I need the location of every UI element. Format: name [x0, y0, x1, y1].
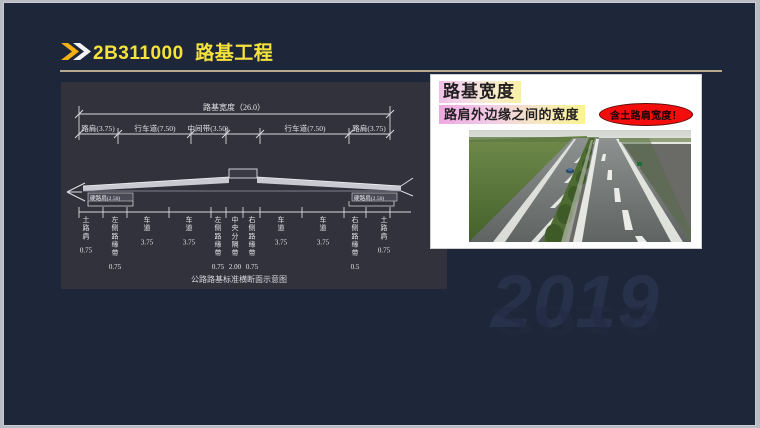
- lbl-9: 右侧路缘带: [352, 215, 359, 257]
- title-code: 2B311000: [93, 43, 184, 64]
- svg-text:硬路肩(2.50): 硬路肩(2.50): [90, 194, 120, 202]
- val-3: 3.75: [183, 238, 196, 246]
- cross-section-drawing: 路基宽度（26.0） 路肩(3.75) 行车道(7.50) 中间带(3.50) …: [61, 82, 447, 289]
- seg-label-0: 路肩(3.75): [81, 123, 115, 133]
- val-7: 3.75: [275, 238, 288, 246]
- right-subtitle-highlight: 路肩外边缘之间的宽度: [439, 105, 585, 124]
- right-title: 路基宽度: [443, 81, 515, 103]
- watermark-reflection: 2019: [491, 300, 721, 341]
- val-0: 0.75: [80, 247, 93, 255]
- watermark-text: 2019: [491, 265, 721, 339]
- val-6: 0.75: [246, 263, 259, 271]
- presentation-slide: 2019 2019 2B311000 路基工程: [3, 2, 756, 426]
- lbl-8: 车道: [320, 215, 327, 232]
- highway-photo-image: [469, 130, 691, 242]
- overall-dim-label: 路基宽度（26.0）: [203, 102, 265, 112]
- lbl-1: 左侧路缘带: [112, 215, 119, 257]
- lbl-7: 车道: [278, 215, 285, 232]
- val-4: 0.75: [212, 263, 225, 271]
- cross-section-diagram: 路基宽度（26.0） 路肩(3.75) 行车道(7.50) 中间带(3.50) …: [61, 82, 447, 289]
- seg-label-3: 行车道(7.50): [284, 123, 326, 133]
- val-2: 3.75: [141, 238, 154, 246]
- lbl-6: 右侧路缘带: [249, 215, 256, 257]
- highway-photo: [469, 130, 691, 242]
- year-watermark: 2019 2019: [491, 265, 721, 405]
- lbl-0: 土路肩: [83, 215, 90, 240]
- lbl-10: 土路肩: [381, 215, 388, 240]
- lbl-4: 左侧路缘带: [215, 215, 222, 257]
- status-badge: 含土路肩宽度！: [599, 103, 693, 126]
- val-10: 0.75: [378, 247, 391, 255]
- photo-card: 路基宽度 路肩外边缘之间的宽度 含土路肩宽度！: [430, 74, 702, 249]
- lbl-5: 中央分隔带: [232, 215, 239, 257]
- shoulder-tag-right: 硬路肩(2.50): [352, 193, 397, 202]
- val-9: 0.5: [351, 263, 360, 271]
- badge-label: 含土路肩宽度！: [610, 107, 682, 122]
- lbl-2: 车道: [144, 215, 151, 232]
- double-chevron-icon: [61, 43, 91, 60]
- val-5: 2.00: [229, 263, 242, 271]
- title-label: 路基工程: [195, 43, 273, 64]
- right-subtitle: 路肩外边缘之间的宽度: [444, 105, 579, 124]
- seg-label-1: 行车道(7.50): [134, 123, 176, 133]
- shoulder-tag-left: 硬路肩(2.50): [88, 193, 133, 202]
- lbl-3: 车道: [186, 215, 193, 232]
- svg-text:硬路肩(2.50): 硬路肩(2.50): [354, 194, 384, 202]
- title-divider: [60, 70, 722, 72]
- slide-header: 2B311000 路基工程: [4, 37, 755, 77]
- val-1: 0.75: [109, 263, 122, 271]
- page-title: 2B311000 路基工程: [93, 38, 273, 65]
- diagram-caption: 公路路基标准横断面示意图: [191, 274, 287, 284]
- right-title-highlight: 路基宽度: [439, 81, 521, 103]
- val-8: 3.75: [317, 238, 330, 246]
- seg-label-4: 路肩(3.75): [352, 123, 386, 133]
- seg-label-2: 中间带(3.50): [187, 123, 229, 133]
